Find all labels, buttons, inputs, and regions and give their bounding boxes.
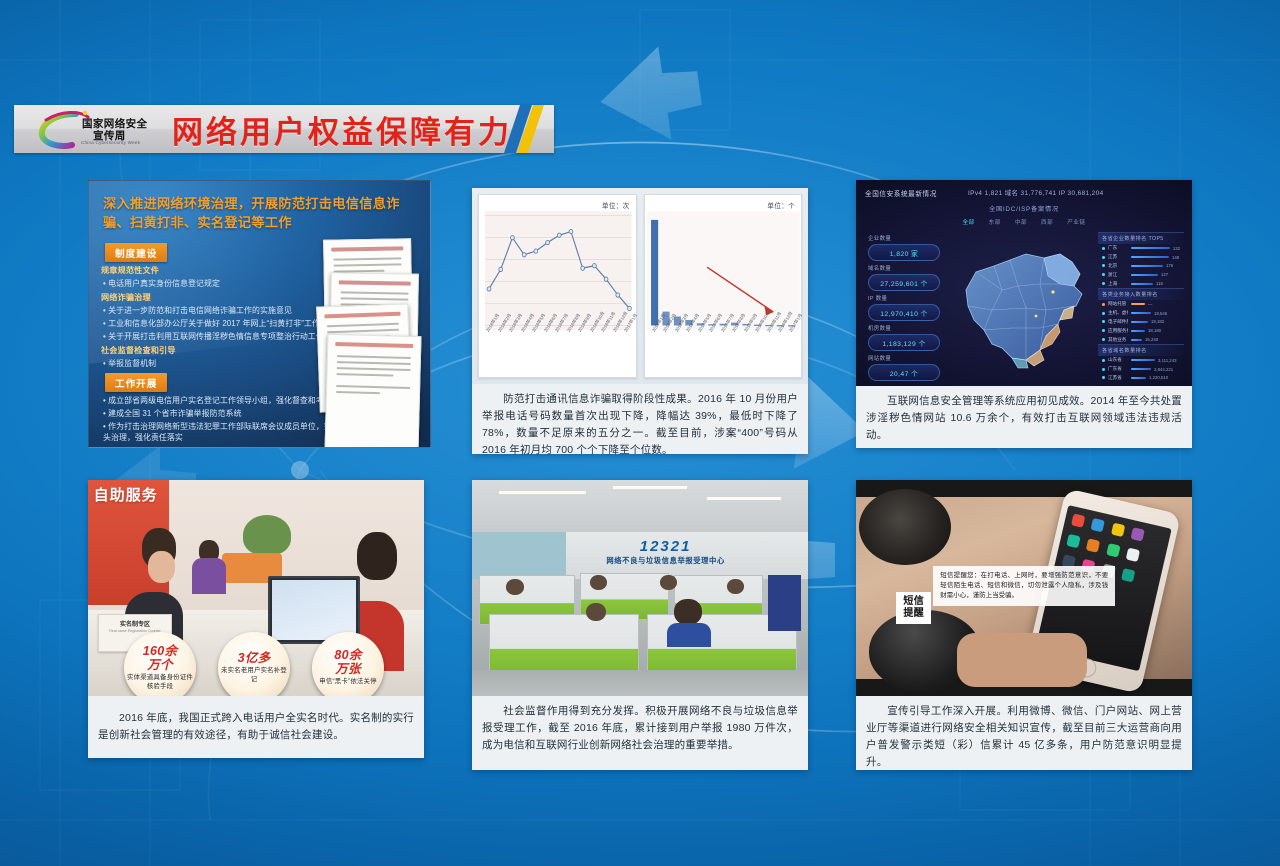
app-icon-1 [1071, 514, 1085, 528]
panel-1-row-0-value: — [1148, 302, 1152, 307]
app-icon-5 [1066, 534, 1080, 548]
card3-caption-text: 互联网信息安全管理等系统应用初见成效。2014 年至今共处置涉淫秽色情网站 10… [866, 395, 1182, 441]
sms-tag: 短信 提醒 [896, 592, 931, 624]
panel-1-row-4: 其他业务15,240 [1098, 335, 1184, 344]
group1-label: 规章规范性文件 [101, 265, 159, 276]
document-stack [304, 239, 422, 419]
panel-2-row-2: 江苏省1,220,510 [1098, 374, 1184, 383]
header-bar: 国家网络安全 宣传周 China Cybersecurity Week 网络用户… [14, 105, 554, 153]
stat-badge-2-num1: 80余 [334, 648, 361, 662]
panel-0-row-0-value: 132 [1173, 246, 1180, 251]
card-fraud-charts: 单位：次 用户举报电话号码数量持续下降 2016年1月2016年2月2016年3… [472, 188, 808, 454]
chip-system-construction: 制度建设 [105, 243, 167, 262]
group2-label: 网络诈骗治理 [101, 292, 151, 303]
dashboard-tab-0[interactable]: 全部 [962, 218, 974, 226]
sms-callout: 短信提醒您：在打电话、上网时，要增强防范意识，不要轻信陌生电话、短信和微信，切勿… [933, 566, 1115, 606]
work-item-1-text: 建成全国 31 个省市诈骗举报防范系统 [108, 409, 241, 418]
agent-head-3 [660, 575, 677, 590]
photo-plant [243, 515, 291, 555]
photo-teal-panel [472, 532, 566, 580]
bar-chart-svg [645, 209, 802, 377]
card-sms-reminder: 短信提醒您：在打电话、上网时，要增强防范意识，不要轻信陌生电话、短信和微信，切勿… [856, 480, 1192, 770]
ceiling-light-1 [499, 491, 586, 494]
card5-photo: 12321 网络不良与垃圾信息举报受理中心 [472, 480, 808, 696]
panel-1-row-3-value: 18,180 [1148, 328, 1161, 333]
phone-photo: 短信提醒您：在打电话、上网时，要增强防范意识，不要轻信陌生电话、短信和微信，切勿… [856, 480, 1192, 696]
work-item-0: • 成立部省两级电信用户实名登记工作领导小组，强化督查和考核 [103, 395, 332, 406]
photo-floor [472, 670, 808, 696]
line-chart-svg [479, 209, 636, 377]
dashboard-tab-1[interactable]: 东部 [989, 218, 1001, 226]
kpi-3-value: 1,183,129 个 [868, 334, 940, 351]
panel-0-row-1-value: 149 [1172, 255, 1179, 260]
sign-text: 网络不良与垃圾信息举报受理中心 [606, 556, 724, 566]
dashboard-subtitle: 全国IDC/ISP备案情况 [856, 204, 1192, 213]
dashboard-tab-3[interactable]: 西部 [1041, 218, 1053, 226]
panel-0-row-2: 北京176 [1098, 262, 1184, 271]
sign-number: 12321 [606, 538, 724, 555]
kpi-4: 网站数量 20,47 个 [868, 354, 940, 381]
card6-photo: 短信提醒您：在打电话、上网时，要增强防范意识，不要轻信陌生电话、短信和微信，切勿… [856, 480, 1192, 696]
panel-0-row-0: 广东132 [1098, 244, 1184, 253]
card-security-dashboard: 全国信安系统最新情况 IPv4 1,821 域名 31,776,741 IP 3… [856, 180, 1192, 448]
china-map [948, 232, 1098, 382]
group3-label: 社会监督检查和引导 [101, 345, 176, 356]
cybersecurity-week-logo: 国家网络安全 宣传周 China Cybersecurity Week [36, 107, 154, 151]
header-slash-decoration [502, 105, 548, 153]
panel-0-row-4-value: 115 [1156, 281, 1163, 286]
group3-item-0: • 举报监督机制 [103, 358, 156, 369]
panel-2: 各省域名数量排名 山东省3,111,243 广东省2,844,221 江苏省1,… [1098, 344, 1184, 382]
app-icon-8 [1126, 548, 1140, 562]
panel-2-row-0-value: 3,111,243 [1158, 358, 1176, 363]
kpi-3: 机房数量 1,183,129 个 [868, 324, 940, 351]
line-chart-plot: 2016年1月2016年2月2016年3月2016年4月2016年5月2016年… [479, 209, 636, 377]
panel-1-row-4-name: 其他业务 [1108, 337, 1128, 343]
stat-badge-2-text: 申信“黑卡”依法关停 [319, 678, 376, 686]
panel-0-heading: 各省企业数量排名 TOP5 [1098, 233, 1184, 244]
kpi-0-label: 企业数量 [868, 234, 940, 242]
app-icon-6 [1086, 539, 1100, 553]
panel-1-row-1-value: 19,546 [1154, 311, 1167, 316]
stat-badge-0-num1: 160余 [143, 644, 178, 658]
app-icon-7 [1106, 544, 1120, 558]
kpi-2-value: 12,970,410 个 [868, 304, 940, 321]
stat-badge-1: 3亿多 未实名老用户实名补登记 [218, 632, 290, 696]
agent-head-2 [590, 575, 607, 590]
photo-camera-lens [859, 489, 951, 565]
app-icon-12 [1121, 569, 1135, 583]
card2-caption: 防范打击通讯信息诈骗取得阶段性成果。2016 年 10 月份用户举报电话号码数量… [472, 384, 808, 467]
kpi-1-value: 27,259,601 个 [868, 274, 940, 291]
stat-badge-1-number: 3亿多 [238, 652, 271, 666]
photo-person-face-1 [148, 551, 175, 583]
photo-blue-cabinet [768, 575, 802, 631]
charts-media: 单位：次 用户举报电话号码数量持续下降 2016年1月2016年2月2016年3… [472, 188, 808, 384]
stat-badge-1-num1: 3亿多 [238, 651, 271, 665]
kpi-2-label: IP 数量 [868, 294, 940, 302]
panel-1-row-0: 网站托管— [1098, 300, 1184, 309]
group1-item-0: • 电话用户真实身份信息登记规定 [103, 278, 220, 289]
agent-body-6 [667, 623, 711, 647]
card4-photo: 自助服务 实名制专区 Real-name Registration Counte… [88, 480, 424, 696]
panel-1-row-4-value: 15,240 [1145, 337, 1158, 342]
dashboard-stats: IPv4 1,821 域名 31,776,741 IP 30,681,204 [968, 188, 1104, 197]
panel-1-heading: 各类业务接入数量排名 [1098, 289, 1184, 300]
kpi-4-label: 网站数量 [868, 354, 940, 362]
logo-text-english: China Cybersecurity Week [81, 140, 140, 145]
card6-caption-text: 宣传引导工作深入开展。利用微博、微信、门户网站、网上营业厅等渠道进行网络安全相关… [866, 705, 1182, 768]
work-item-2: • 作为打击治理网络新型违法犯罪工作部际联席会议成员单位，突出源头治理，强化责任… [103, 421, 353, 443]
ceiling-light-3 [707, 497, 781, 500]
card3-caption: 互联网信息安全管理等系统应用初见成效。2014 年至今共处置涉淫秽色情网站 10… [856, 386, 1192, 452]
panel-2-row-1: 广东省2,844,221 [1098, 365, 1184, 374]
app-icon-4 [1131, 528, 1145, 542]
panel-0-row-0-name: 广东 [1108, 245, 1128, 251]
panel-1: 各类业务接入数量排名 网站托管— 主机、虚拟机19,546 电子邮件服务19,1… [1098, 288, 1184, 344]
agent-head-1 [506, 579, 524, 595]
panel-1-row-2: 电子邮件服务19,182 [1098, 318, 1184, 327]
dashboard-tabs[interactable]: 全部 东部 中部 西部 产业链 [856, 218, 1192, 226]
panel-1-row-3: 应用服务托管18,180 [1098, 326, 1184, 335]
work-item-1: • 建成全国 31 个省市诈骗举报防范系统 [103, 408, 242, 419]
kpi-1: 域名数量 27,259,601 个 [868, 264, 940, 291]
panel-0: 各省企业数量排名 TOP5 广东132 江苏149 北京176 浙江127 上海… [1098, 232, 1184, 288]
panel-0-row-2-value: 176 [1166, 263, 1173, 268]
cubicle-4 [489, 614, 639, 676]
plate-title-cn: 实名制专区 [99, 619, 171, 628]
app-icon-2 [1091, 518, 1105, 532]
dashboard-tab-2[interactable]: 中部 [1015, 218, 1027, 226]
panel-0-row-1: 江苏149 [1098, 253, 1184, 262]
stat-badge-0-num2: 万个 [147, 658, 173, 672]
dashboard-tab-4[interactable]: 产业链 [1067, 218, 1085, 226]
stat-badge-0: 160余万个 实体渠道具备身份证件核验手段 [124, 632, 196, 696]
card5-caption: 社会监督作用得到充分发挥。积极开展网络不良与垃圾信息举报受理工作，截至 2016… [472, 696, 808, 762]
sms-tag-line2: 提醒 [903, 608, 924, 620]
agent-head-6 [674, 599, 702, 625]
agent-head-5 [586, 603, 606, 621]
group3-item-0-text: 举报监督机制 [108, 359, 156, 368]
ceiling-light-2 [613, 486, 687, 489]
kpi-1-label: 域名数量 [868, 264, 940, 272]
card-policy-slide: 深入推进网络环境治理，开展防范打击电信信息诈骗、扫黄打非、实名登记等工作 制度建… [88, 180, 431, 448]
panel-2-row-0-name: 山东省 [1108, 357, 1128, 363]
stat-badge-2-num2: 万张 [335, 662, 361, 676]
group1-item-0-text: 电话用户真实身份信息登记规定 [108, 279, 220, 288]
panel-0-row-3: 浙江127 [1098, 270, 1184, 279]
kpi-2: IP 数量 12,970,410 个 [868, 294, 940, 321]
panel-2-row-2-name: 江苏省 [1108, 375, 1128, 381]
slide-title: 深入推进网络环境治理，开展防范打击电信信息诈骗、扫黄打非、实名登记等工作 [103, 195, 403, 232]
panel-0-row-1-name: 江苏 [1108, 254, 1128, 260]
line-chart: 单位：次 用户举报电话号码数量持续下降 2016年1月2016年2月2016年3… [478, 194, 637, 378]
sms-tag-line1: 短信 [903, 596, 924, 608]
card-realname-registration: 自助服务 实名制专区 Real-name Registration Counte… [88, 480, 424, 758]
card-12321-call-center: 12321 网络不良与垃圾信息举报受理中心 社会监督作用得到充分发挥。积极开展网… [472, 480, 808, 770]
stat-badge-0-text: 实体渠道具备身份证件核验手段 [124, 674, 196, 691]
sms-callout-text: 短信提醒您：在打电话、上网时，要增强防范意识，不要轻信陌生电话、短信和微信，切勿… [940, 572, 1108, 599]
photo-hand [957, 633, 1087, 687]
photo-person-body-3 [192, 558, 226, 594]
card6-caption: 宣传引导工作深入开展。利用微博、微信、门户网站、网上营业厅等渠道进行网络安全相关… [856, 696, 1192, 779]
group2-item-0: • 关于进一步防范和打击电信网络诈骗工作的实施意见 [103, 305, 292, 316]
page-title: 网络用户权益保障有力 [172, 107, 512, 152]
panel-1-row-2-name: 电子邮件服务 [1108, 319, 1128, 325]
panel-1-row-1-name: 主机、虚拟机 [1108, 310, 1128, 316]
panel-1-row-3-name: 应用服务托管 [1108, 328, 1128, 334]
dashboard-title: 全国信安系统最新情况 [865, 188, 937, 198]
dashboard-screen: 全国信安系统最新情况 IPv4 1,821 域名 31,776,741 IP 3… [856, 180, 1192, 386]
panel-2-heading: 各省域名数量排名 [1098, 345, 1184, 356]
card5-caption-text: 社会监督作用得到充分发挥。积极开展网络不良与垃圾信息举报受理工作，截至 2016… [482, 705, 798, 751]
panel-0-row-3-name: 浙江 [1108, 272, 1128, 278]
stat-badge-0-number: 160余万个 [143, 645, 178, 672]
kpi-4-value: 20,47 个 [868, 364, 940, 381]
panel-0-row-3-value: 127 [1161, 272, 1168, 277]
photo-person-hair-2 [357, 532, 397, 580]
kpi-3-label: 机房数量 [868, 324, 940, 332]
photo-banner-text: 自助服务 [94, 488, 158, 505]
stat-badge-2: 80余万张 申信“黑卡”依法关停 [312, 632, 384, 696]
policy-slide: 深入推进网络环境治理，开展防范打击电信信息诈骗、扫黄打非、实名登记等工作 制度建… [88, 180, 431, 448]
panel-1-row-0-name: 网站托管 [1108, 301, 1128, 307]
panel-1-row-2-value: 19,182 [1151, 319, 1164, 324]
center-sign: 12321 网络不良与垃圾信息举报受理中心 [606, 538, 724, 566]
panel-0-row-4: 上海115 [1098, 279, 1184, 288]
card4-caption: 2016 年底，我国正式跨入电话用户全实名时代。实名制的实行是创新社会管理的有效… [88, 696, 424, 752]
bar-chart: 单位：个 涉案“400”号码从月均 700 多个下降至个位数 2016年1月20… [644, 194, 803, 378]
panel-0-row-2-name: 北京 [1108, 263, 1128, 269]
dashboard-media: 全国信安系统最新情况 IPv4 1,821 域名 31,776,741 IP 3… [856, 180, 1192, 386]
bar-chart-plot: 2016年1月2016年2月2016年3月2016年4月2016年5月2016年… [645, 209, 802, 377]
stat-badge-2-number: 80余万张 [334, 649, 361, 676]
chip-work-progress: 工作开展 [105, 373, 167, 392]
panel-0-row-4-name: 上海 [1108, 281, 1128, 287]
panel-1-row-1: 主机、虚拟机19,546 [1098, 309, 1184, 318]
group2-item-0-text: 关于进一步防范和打击电信网络诈骗工作的实施意见 [108, 306, 292, 315]
document-4 [324, 334, 421, 448]
work-item-2-text: 作为打击治理网络新型违法犯罪工作部际联席会议成员单位，突出源头治理，强化责任落实 [103, 422, 348, 442]
kpi-0: 企业数量 1,820 家 [868, 234, 940, 261]
card4-caption-text: 2016 年底，我国正式跨入电话用户全实名时代。实名制的实行是创新社会管理的有效… [98, 712, 414, 741]
app-icon-3 [1111, 523, 1125, 537]
panel-2-row-2-value: 1,220,510 [1149, 375, 1168, 380]
panel-2-row-0: 山东省3,111,243 [1098, 356, 1184, 365]
work-item-0-text: 成立部省两级电信用户实名登记工作领导小组，强化督查和考核 [108, 396, 332, 405]
call-center-photo: 12321 网络不良与垃圾信息举报受理中心 [472, 480, 808, 696]
card2-caption-text: 防范打击通讯信息诈骗取得阶段性成果。2016 年 10 月份用户举报电话号码数量… [482, 393, 798, 456]
panel-2-row-1-value: 2,844,221 [1154, 367, 1173, 372]
stat-badge-1-text: 未实名老用户实名补登记 [218, 667, 290, 684]
kpi-0-value: 1,820 家 [868, 244, 940, 261]
self-service-hall-photo: 自助服务 实名制专区 Real-name Registration Counte… [88, 480, 424, 696]
panel-2-row-1-name: 广东省 [1108, 366, 1128, 372]
